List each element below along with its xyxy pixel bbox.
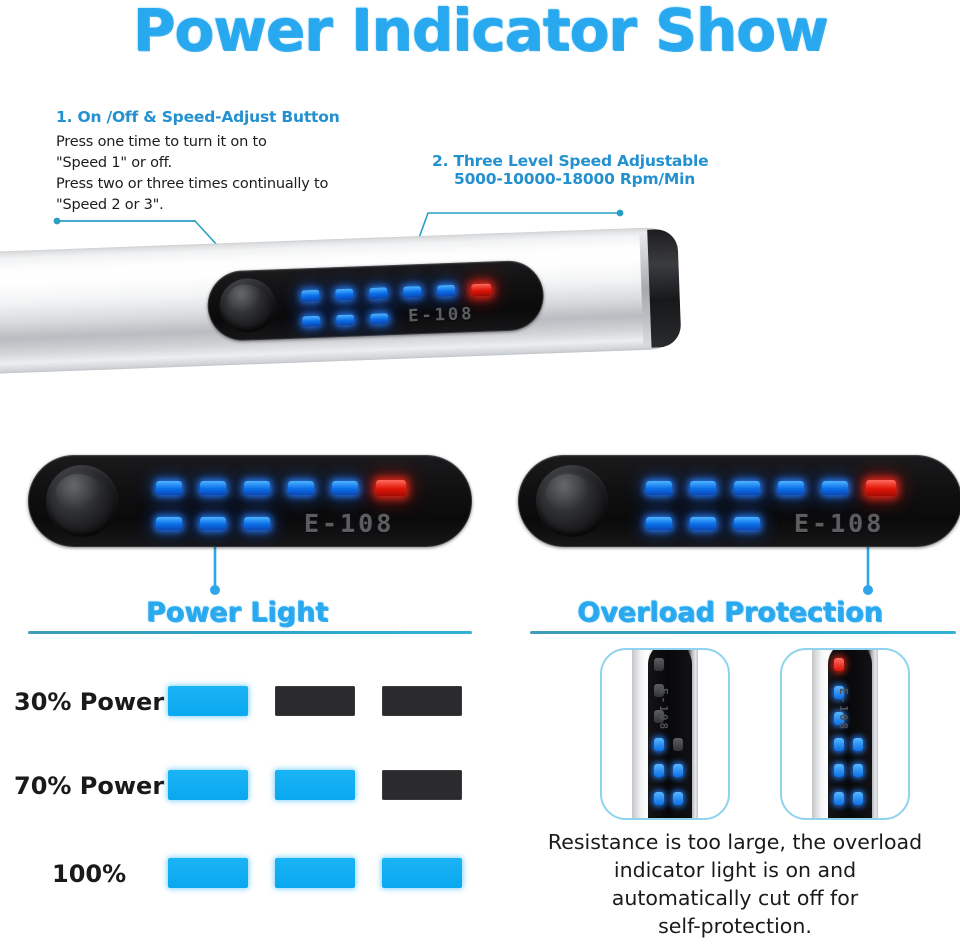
callout-2-heading: 2. Three Level Speed Adjustable (432, 152, 709, 170)
overload-caption-line-2: indicator light is on and (520, 856, 950, 884)
callout-note-1: 1. On /Off & Speed-Adjust Button Press o… (56, 108, 340, 216)
model-label-left: E-108 (304, 509, 394, 538)
led-bottom-3 (734, 517, 760, 530)
led-top-4 (403, 286, 421, 298)
vled-a-1 (654, 658, 664, 671)
model-label-photo-b: E-108 (837, 688, 850, 731)
power-bar-30-1 (168, 686, 248, 716)
power-bar-70-1 (168, 770, 248, 800)
led-top-2 (200, 481, 226, 495)
callout-1-line-3: Press two or three times continually to (56, 174, 340, 195)
overload-caption-line-3: automatically cut off for (520, 884, 950, 912)
pen-vertical-body: E-108 (812, 648, 878, 820)
vled-a-c2-1 (673, 738, 683, 751)
vled-b-6 (834, 792, 844, 805)
page-title: Power Indicator Show (0, 0, 960, 64)
section-heading-overload-protection: Overload Protection (500, 597, 960, 628)
led-bottom-2 (690, 517, 716, 530)
callout-1-line-2: "Speed 1" or off. (56, 153, 340, 174)
divider-overload-protection (530, 631, 956, 634)
power-bar-70-2 (275, 770, 355, 800)
callout-note-2: 2. Three Level Speed Adjustable 5000-100… (432, 152, 709, 188)
control-panel-closeup-power[interactable]: E-108 (28, 455, 472, 547)
divider-power-light (28, 631, 472, 634)
vled-b-c2-1 (853, 738, 863, 751)
vled-a-4 (654, 738, 664, 751)
led-top-3 (734, 481, 760, 495)
control-panel-closeup-overload[interactable]: E-108 (518, 455, 960, 547)
product-photo-pen: E-108 (0, 226, 688, 384)
power-row-label-100: 100% (52, 860, 126, 888)
led-top-1 (301, 290, 319, 302)
vled-a-6 (654, 792, 664, 805)
model-label-photo-a: E-108 (657, 688, 670, 731)
led-top-2 (690, 481, 716, 495)
led-top-5 (437, 285, 455, 297)
pen-vertical-panel: E-108 (648, 648, 692, 820)
vled-a-c2-2 (673, 764, 683, 777)
led-top-3 (244, 481, 270, 495)
led-top-3 (369, 287, 387, 299)
led-bottom-2 (336, 315, 354, 326)
overload-photo-triggered: E-108 (780, 648, 910, 820)
power-bar-30-3 (382, 686, 462, 716)
callout-1-line-4: "Speed 2 or 3". (56, 195, 340, 216)
vled-b-5 (834, 764, 844, 777)
callout-1-heading: 1. On /Off & Speed-Adjust Button (56, 108, 340, 126)
power-bar-100-2 (275, 858, 355, 888)
vled-a-5 (654, 764, 664, 777)
callout-1-line-1: Press one time to turn it on to (56, 132, 340, 153)
led-overload-indicator (376, 480, 406, 496)
callout-2-subheading: 5000-10000-18000 Rpm/Min (432, 170, 709, 188)
led-top-4 (778, 481, 804, 495)
led-top-1 (156, 481, 182, 495)
model-label-right: E-108 (794, 509, 884, 538)
overload-caption-line-1: Resistance is too large, the overload (520, 828, 950, 856)
vled-b-overload (834, 658, 844, 671)
power-button[interactable] (46, 465, 118, 537)
pen-vertical-panel: E-108 (828, 648, 872, 820)
power-button[interactable] (536, 465, 608, 537)
pen-endcap (647, 229, 681, 348)
vled-b-4 (834, 738, 844, 751)
overload-photo-normal: E-108 (600, 648, 730, 820)
vled-a-c2-3 (673, 792, 683, 805)
led-bottom-3 (244, 517, 270, 530)
control-panel-hero[interactable]: E-108 (206, 260, 544, 342)
pen-vertical-body: E-108 (632, 648, 698, 820)
power-bar-70-3 (382, 770, 462, 800)
led-bottom-1 (156, 517, 182, 530)
power-row-label-30: 30% Power (14, 688, 164, 716)
section-heading-power-light: Power Light (0, 597, 474, 628)
led-bottom-1 (646, 517, 672, 530)
overload-caption: Resistance is too large, the overload in… (520, 828, 950, 940)
led-bottom-1 (302, 316, 320, 327)
led-bottom-2-power-light (200, 517, 226, 530)
vled-b-c2-2 (853, 764, 863, 777)
led-bottom-3 (370, 313, 388, 324)
power-bar-30-2 (275, 686, 355, 716)
led-overload-indicator (866, 480, 896, 496)
led-top-1 (646, 481, 672, 495)
led-top-4 (288, 481, 314, 495)
overload-caption-line-4: self-protection. (520, 912, 950, 940)
power-bar-100-1 (168, 858, 248, 888)
model-label-hero: E-108 (408, 304, 475, 326)
power-row-label-70: 70% Power (14, 772, 164, 800)
led-top-5 (822, 481, 848, 495)
vled-b-c2-3 (853, 792, 863, 805)
led-overload-indicator (471, 283, 491, 296)
power-bar-100-3 (382, 858, 462, 888)
led-top-2 (335, 289, 353, 301)
led-top-5 (332, 481, 358, 495)
